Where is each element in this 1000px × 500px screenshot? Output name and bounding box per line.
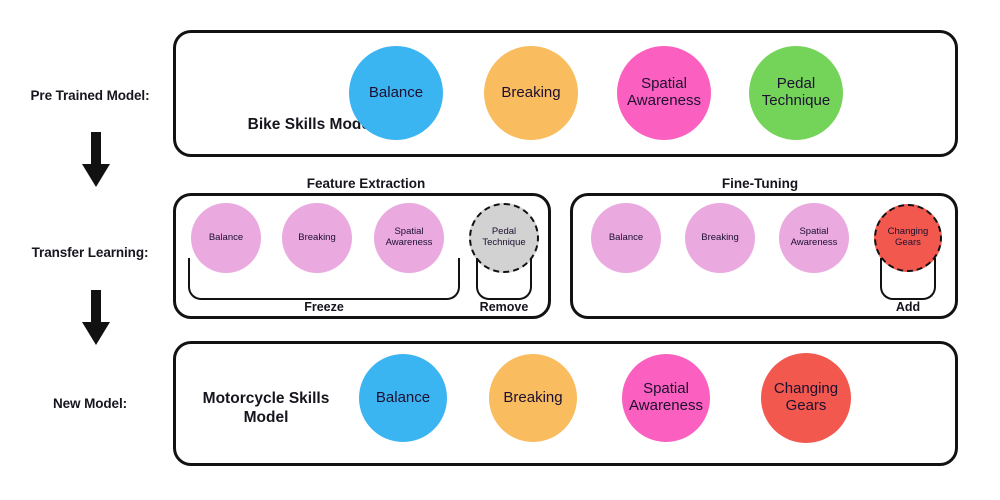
fine-tuning-panel: Balance Breaking Spatial Awareness Chang… — [570, 193, 958, 319]
ft-skill-bubble-spatial-awareness: Spatial Awareness — [779, 203, 849, 273]
skill-bubble-pedal-technique: Pedal Technique — [749, 46, 843, 140]
feature-extraction-panel: Balance Breaking Spatial Awareness Pedal… — [173, 193, 551, 319]
stage-label-pre-trained-model: Pre Trained Model: — [31, 88, 150, 103]
skill-bubble-balance: Balance — [349, 46, 443, 140]
freeze-bracket — [188, 258, 460, 300]
new-skill-bubble-spatial-awareness: Spatial Awareness — [622, 354, 710, 442]
stage-label-new-model: New Model: — [53, 396, 127, 411]
new-model-panel: Motorcycle Skills Model Balance Breaking… — [173, 341, 958, 466]
skill-bubble-breaking: Breaking — [484, 46, 578, 140]
remove-bracket-label: Remove — [480, 300, 529, 314]
add-bracket-label: Add — [896, 300, 920, 314]
arrow-pretrained-to-transfer-icon — [79, 132, 113, 193]
new-model-title: Motorcycle Skills Model — [203, 389, 330, 427]
feature-extraction-caption: Feature Extraction — [307, 176, 426, 191]
freeze-bracket-label: Freeze — [304, 300, 344, 314]
new-skill-bubble-balance: Balance — [359, 354, 447, 442]
add-bracket — [880, 258, 936, 300]
arrow-transfer-to-new-icon — [79, 290, 113, 351]
new-skill-bubble-changing-gears: Changing Gears — [761, 353, 851, 443]
stage-label-transfer-learning: Transfer Learning: — [32, 245, 149, 260]
pretrained-model-panel: Bike Skills Model Balance Breaking Spati… — [173, 30, 958, 157]
fine-tuning-caption: Fine-Tuning — [722, 176, 798, 191]
new-skill-bubble-breaking: Breaking — [489, 354, 577, 442]
ft-skill-bubble-breaking: Breaking — [685, 203, 755, 273]
ft-skill-bubble-balance: Balance — [591, 203, 661, 273]
skill-bubble-spatial-awareness: Spatial Awareness — [617, 46, 711, 140]
remove-bracket — [476, 258, 532, 300]
